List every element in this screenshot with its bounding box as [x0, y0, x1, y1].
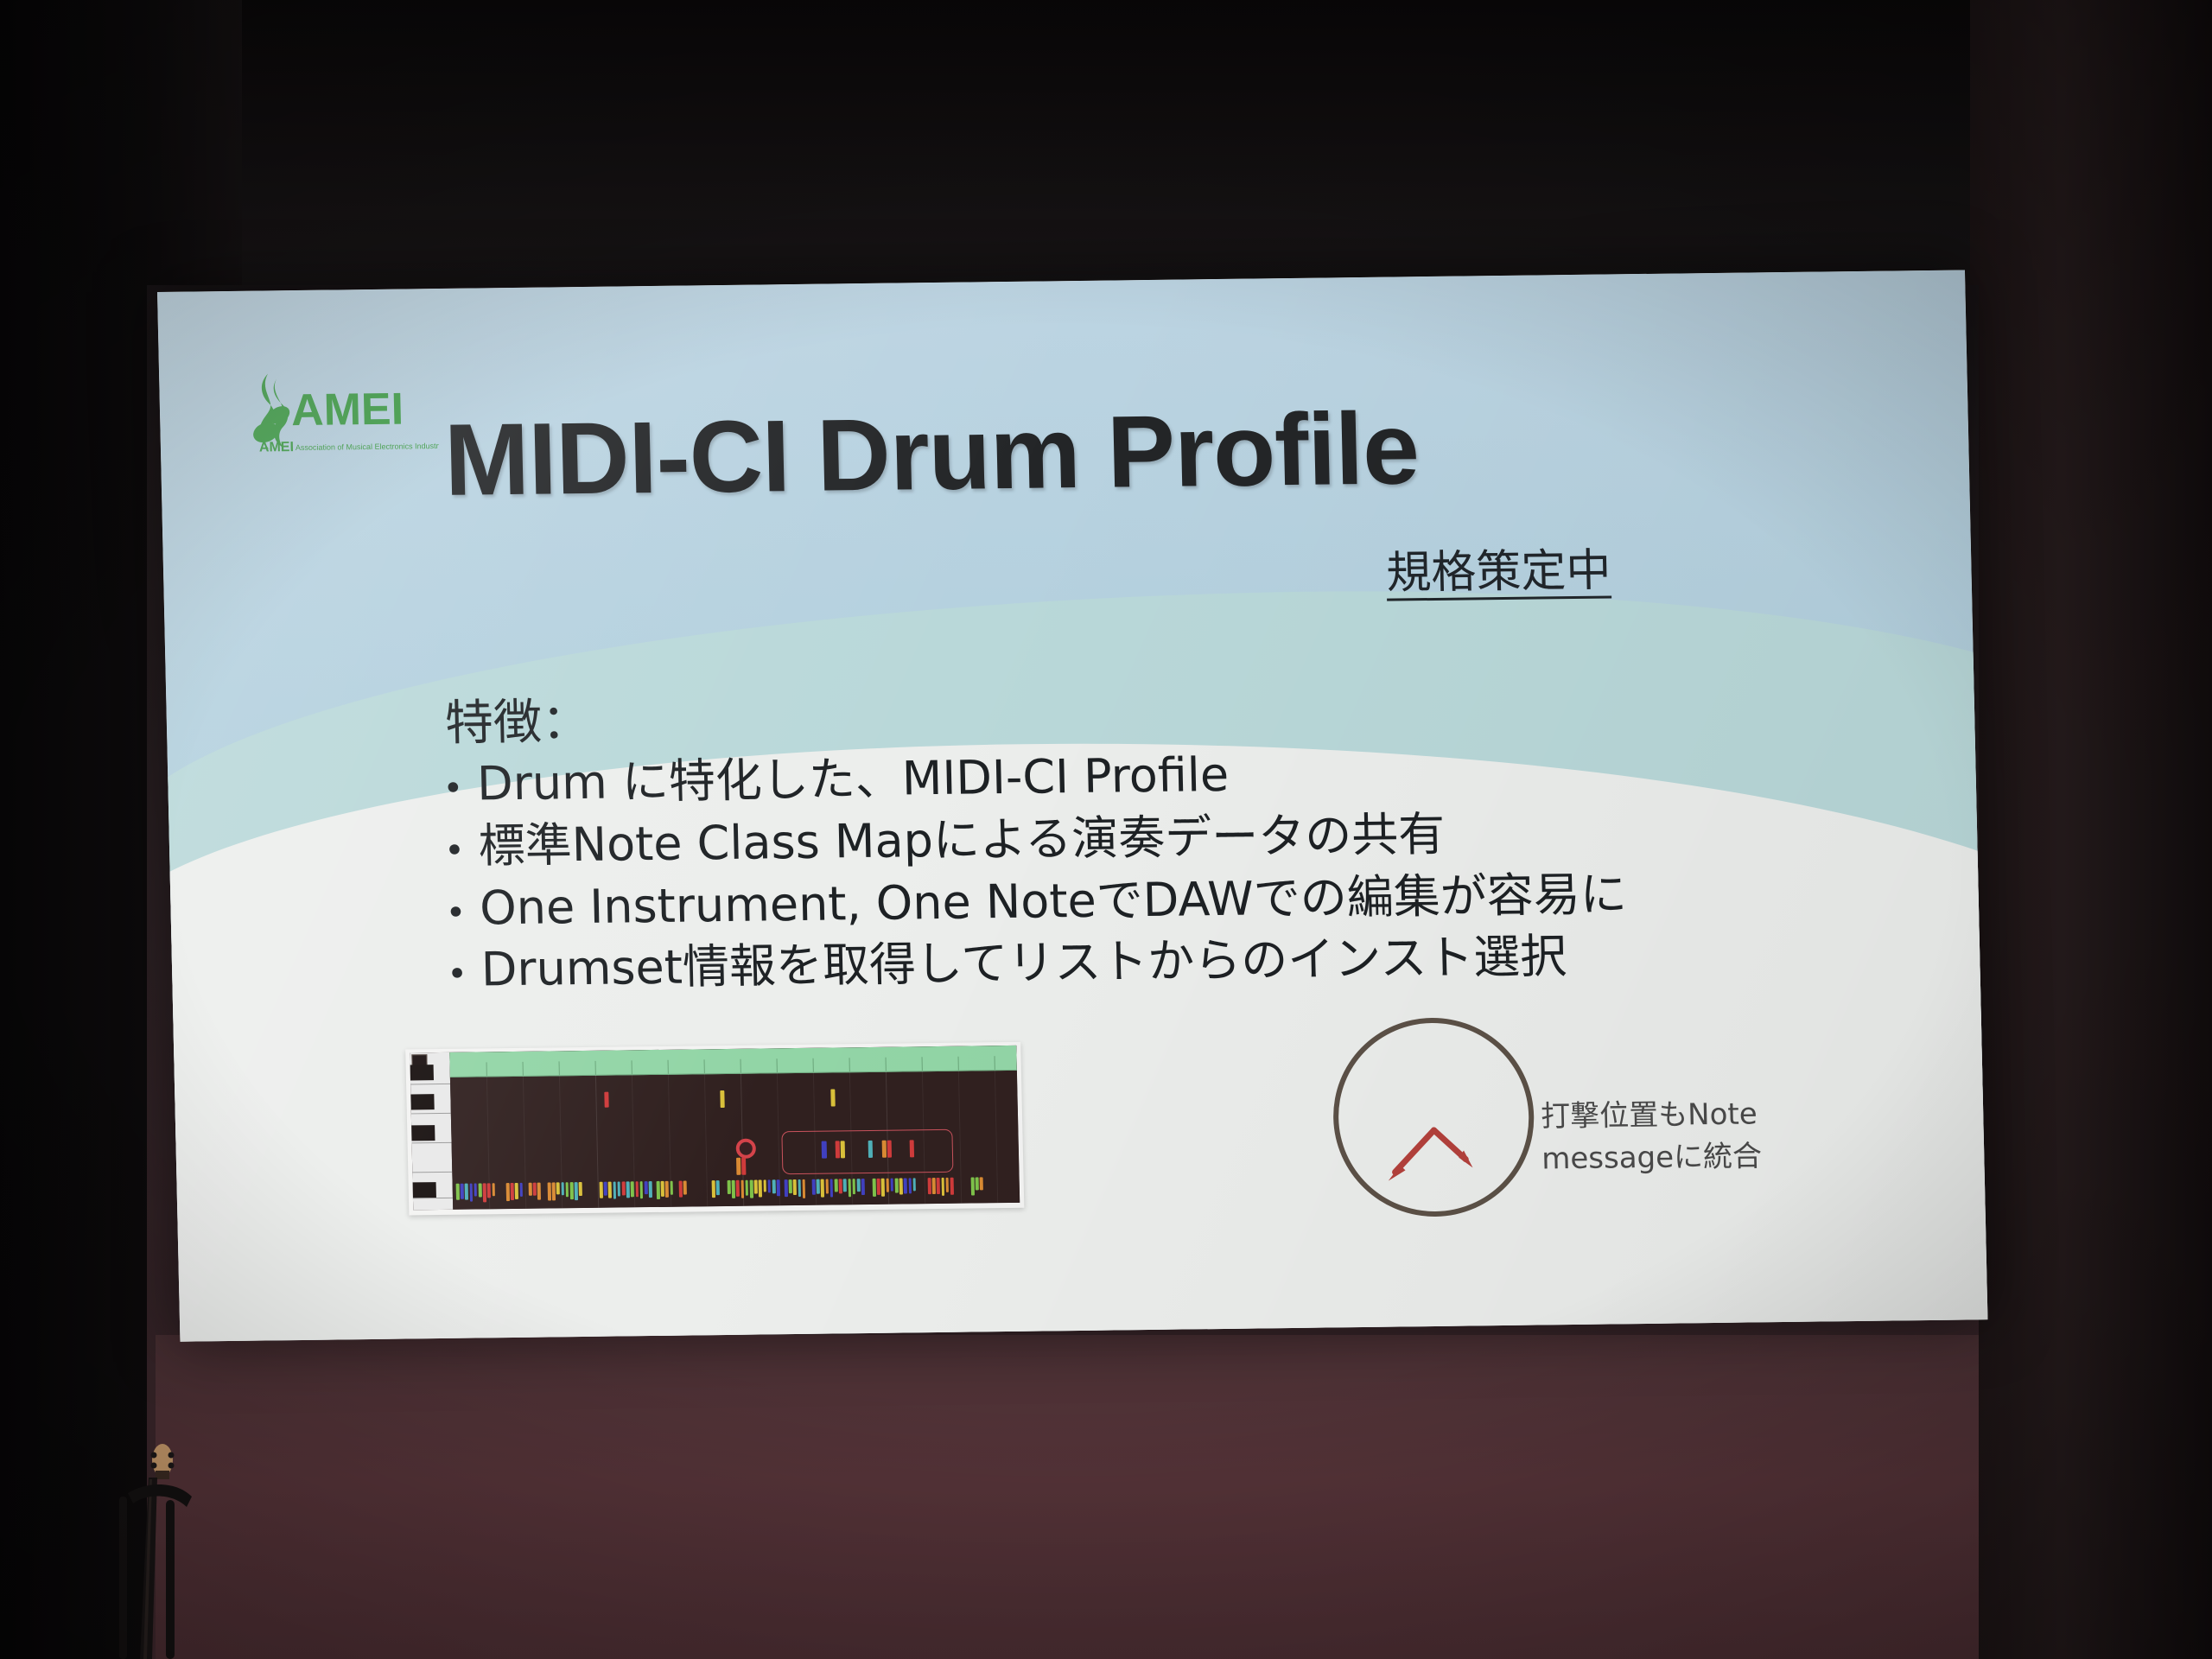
hall-right-wall [1961, 0, 2212, 1659]
midi-note [570, 1182, 574, 1199]
midi-note [945, 1178, 949, 1192]
guitar-on-stand [102, 1443, 249, 1659]
feature-bullet-2-text: 標準Note Class Mapによる演奏データの共有 [478, 804, 1446, 877]
midi-note [645, 1181, 648, 1194]
midi-note [515, 1183, 518, 1199]
midi-note [631, 1181, 634, 1197]
piano-keyboard [410, 1052, 453, 1211]
midi-note [474, 1184, 477, 1197]
midi-note [767, 1179, 771, 1192]
midi-note [835, 1179, 838, 1192]
midi-note [537, 1183, 541, 1200]
midi-note [843, 1179, 847, 1192]
midi-note [793, 1179, 797, 1195]
midi-note [487, 1183, 491, 1198]
midi-note [821, 1179, 824, 1198]
midi-note [910, 1140, 914, 1157]
midi-note [763, 1179, 766, 1192]
midi-note [635, 1181, 639, 1197]
midi-note [665, 1181, 669, 1198]
svg-text:Association of Musical Electro: Association of Musical Electronics Indus… [296, 442, 439, 452]
midi-note [785, 1179, 788, 1197]
midi-note [670, 1181, 673, 1195]
midi-note [529, 1183, 532, 1196]
midi-note [868, 1141, 873, 1158]
midi-note [552, 1182, 556, 1200]
midi-note [822, 1141, 827, 1159]
midi-note [579, 1182, 582, 1196]
midi-note [899, 1178, 903, 1194]
midi-note [511, 1183, 514, 1200]
drum-caption-line-2: messageに統合 [1541, 1135, 1827, 1181]
midi-note [732, 1180, 735, 1198]
midi-note [479, 1183, 482, 1197]
slide-subtitle: 規格策定中 [1386, 533, 1612, 601]
midi-note [519, 1183, 523, 1197]
midi-note [908, 1178, 912, 1193]
midi-note [759, 1179, 762, 1197]
svg-text:AMEI: AMEI [290, 385, 404, 436]
midi-note [976, 1177, 979, 1190]
midi-note [950, 1178, 954, 1195]
midi-note [980, 1177, 983, 1190]
midi-note [772, 1179, 776, 1193]
midi-note [683, 1181, 687, 1195]
midi-note [604, 1092, 608, 1108]
midi-note [836, 1141, 840, 1158]
photo-of-presentation-screen: AMEI AMEI Association of Musical Electro… [0, 0, 2212, 1659]
bullet-marker-icon: • [447, 957, 467, 992]
midi-note [882, 1141, 887, 1158]
midi-note [728, 1180, 731, 1194]
midi-note [750, 1180, 753, 1198]
midi-note [469, 1184, 473, 1202]
midi-note [483, 1183, 486, 1202]
midi-note [622, 1181, 626, 1195]
bullet-marker-icon: • [445, 895, 466, 930]
midi-note [812, 1179, 816, 1195]
midi-note [575, 1182, 578, 1200]
active-note-cursor-icon [736, 1139, 757, 1159]
features-label: 特徴： [444, 683, 591, 754]
midi-note [736, 1180, 740, 1197]
midi-note [661, 1181, 664, 1197]
midi-note [600, 1182, 603, 1198]
midi-note [604, 1182, 607, 1196]
midi-note [825, 1179, 829, 1194]
midi-note [887, 1141, 892, 1158]
feature-bullet-1-text: Drum に特化した、MIDI-CI Profile [476, 744, 1230, 815]
midi-note [565, 1182, 569, 1197]
midi-note [881, 1179, 885, 1197]
midi-note [830, 1089, 835, 1106]
timeline-ruler [449, 1046, 1017, 1077]
midi-note [716, 1180, 720, 1195]
feature-bullet-list: • Drum に特化した、MIDI-CI Profile • 標準Note Cl… [442, 737, 1796, 1001]
midi-note [736, 1158, 741, 1175]
midi-note [928, 1178, 931, 1194]
daw-piano-roll-screenshot [405, 1042, 1024, 1216]
midi-note [679, 1181, 683, 1198]
midi-note [777, 1179, 780, 1196]
midi-note [561, 1182, 564, 1195]
midi-note [745, 1180, 748, 1196]
midi-note [617, 1181, 620, 1196]
midi-note [904, 1178, 907, 1193]
midi-note [848, 1179, 851, 1197]
midi-note [492, 1183, 495, 1196]
midi-note [861, 1179, 865, 1195]
slide-title: MIDI-CI Drum Profile [443, 395, 1673, 512]
piano-roll-canvas [410, 1046, 1020, 1211]
midi-note [741, 1180, 744, 1198]
midi-note [971, 1177, 975, 1195]
midi-note [937, 1178, 940, 1194]
projection-screen: AMEI AMEI Association of Musical Electro… [157, 270, 1987, 1341]
midi-note [852, 1179, 855, 1194]
midi-note [626, 1181, 630, 1198]
midi-note [649, 1181, 652, 1198]
midi-note [548, 1182, 551, 1200]
feature-bullet-4-text: Drumset情報を取得してリストからのインスト選択 [480, 926, 1567, 1001]
midi-note [839, 1179, 842, 1193]
midi-note [912, 1178, 916, 1191]
stage-floor [156, 1335, 1979, 1659]
note-grid [449, 1046, 1020, 1210]
amei-logo: AMEI AMEI Association of Musical Electro… [238, 368, 439, 464]
midi-note [533, 1183, 537, 1196]
midi-note [886, 1179, 889, 1192]
slide: AMEI AMEI Association of Musical Electro… [157, 270, 1987, 1341]
midi-note [608, 1182, 612, 1198]
midi-note [895, 1179, 899, 1193]
midi-note [639, 1181, 643, 1198]
midi-note [857, 1179, 861, 1192]
midi-note [456, 1184, 460, 1200]
midi-note [829, 1179, 833, 1197]
midi-note [465, 1184, 468, 1200]
midi-note [657, 1181, 660, 1199]
midi-note [720, 1090, 724, 1108]
midi-note [941, 1178, 944, 1196]
midi-note [877, 1179, 880, 1195]
bullet-marker-icon: • [444, 833, 465, 868]
bullet-marker-icon: • [442, 772, 463, 806]
svg-text:AMEI: AMEI [259, 440, 294, 454]
midi-note [754, 1180, 758, 1194]
midi-note [798, 1179, 801, 1197]
note-selection-box[interactable] [781, 1129, 953, 1174]
drum-diagram-caption: 打撃位置もNote messageに統合 [1541, 1092, 1827, 1181]
midi-note [932, 1178, 936, 1194]
midi-note [506, 1183, 510, 1201]
midi-note [613, 1182, 616, 1199]
midi-note [741, 1158, 746, 1175]
midi-note [789, 1179, 792, 1193]
midi-note [461, 1184, 464, 1199]
midi-note [841, 1141, 845, 1158]
midi-note [890, 1179, 893, 1192]
midi-note [873, 1179, 876, 1197]
drum-caption-line-1: 打撃位置もNote [1541, 1092, 1827, 1138]
midi-note [556, 1182, 560, 1194]
midi-note [817, 1179, 820, 1194]
midi-note [802, 1179, 805, 1198]
drum-head-diagram [1332, 1017, 1536, 1218]
midi-note [712, 1180, 715, 1198]
